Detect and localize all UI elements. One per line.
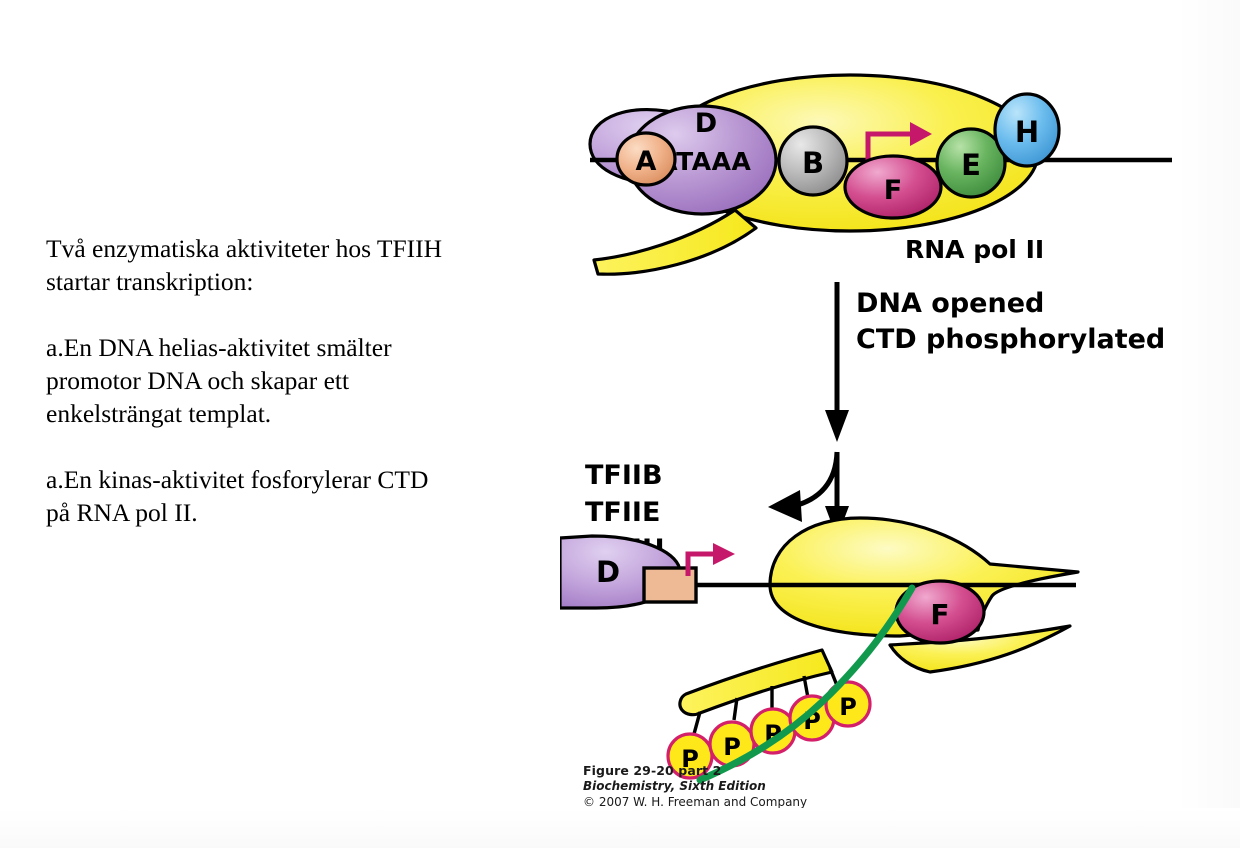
- transition-arrow-1-head: [825, 410, 849, 442]
- released-factor-1: TFIIB: [585, 460, 663, 491]
- paragraph3-line2: på RNA pol II.: [46, 496, 516, 529]
- subunit-D-top-label: D: [695, 108, 717, 139]
- phosphate-label: P: [723, 733, 741, 761]
- rna-pol-ii-label: RNA pol II: [905, 235, 1044, 264]
- transition-step-line1: DNA opened: [856, 288, 1044, 319]
- subunit-E-top-label: E: [961, 148, 981, 182]
- subunit-F-top-label: F: [884, 175, 902, 206]
- body-text-block: Två enzymatiska aktiviteter hos TFIIH st…: [46, 232, 516, 529]
- ctd-tail: [594, 210, 756, 274]
- released-factor-2: TFIIE: [585, 497, 660, 528]
- factor-release-arrow-head: [768, 490, 802, 522]
- figure-caption: Figure 29-20 part 2 Biochemistry, Sixth …: [583, 763, 923, 809]
- paragraph1-line1: Två enzymatiska aktiviteter hos TFIIH: [46, 232, 516, 265]
- phosphate-label: P: [839, 693, 857, 721]
- caption-figure-number: Figure 29-20 part 2: [583, 763, 923, 778]
- paragraph2-line2: promotor DNA och skapar ett: [46, 364, 516, 397]
- subunit-D-bottom-label: D: [596, 555, 620, 589]
- slide-canvas: Två enzymatiska aktiviteter hos TFIIH st…: [0, 0, 1240, 848]
- paragraph1-line2: startar transkription:: [46, 265, 516, 298]
- paragraph2-line1: a.En DNA helias-aktivitet smälter: [46, 331, 516, 364]
- paragraph2-line3: enkelsträngat templat.: [46, 397, 516, 430]
- bottom-complex-group: D F: [560, 518, 1078, 780]
- subunit-A-top-label: A: [636, 146, 657, 177]
- paragraph-spacer: [46, 430, 516, 463]
- caption-copyright: © 2007 W. H. Freeman and Company: [583, 795, 923, 809]
- transition-step-line2: CTD phosphorylated: [856, 324, 1165, 355]
- caption-source-title: Biochemistry, Sixth Edition: [583, 779, 923, 793]
- subunit-F-bottom-label: F: [930, 598, 949, 631]
- paragraph3-line1: a.En kinas-aktivitet fosforylerar CTD: [46, 463, 516, 496]
- figure-diagram: D TATAAA A B F E: [560, 60, 1200, 820]
- subunit-H-top-label: H: [1015, 115, 1039, 149]
- subunit-B-top-label: B: [802, 146, 824, 180]
- paragraph-spacer: [46, 298, 516, 331]
- top-complex-group: D TATAAA A B F E: [590, 75, 1172, 274]
